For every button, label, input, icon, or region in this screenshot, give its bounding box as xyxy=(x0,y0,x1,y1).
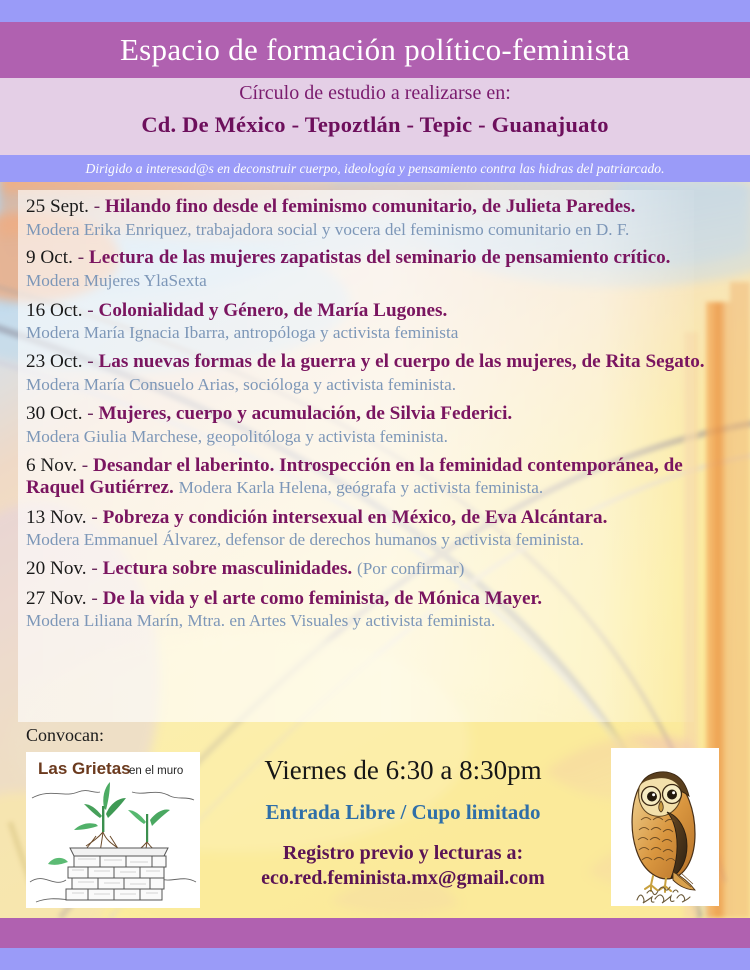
program-event-line: 6 Nov. - Desandar el laberinto. Introspe… xyxy=(26,455,726,500)
program-event-title: De la vida y el arte como feminista, de … xyxy=(103,588,542,609)
program-event-line: 20 Nov. - Lectura sobre masculinidades. … xyxy=(26,558,726,581)
header-top-blue-band xyxy=(0,0,750,22)
program-event-date: 25 Sept. xyxy=(26,196,89,217)
program-event-title: Colonialidad y Género, de María Lugones. xyxy=(98,300,447,321)
program-event-line: 27 Nov. - De la vida y el arte como femi… xyxy=(26,588,726,611)
subtitle-cities: Cd. De México - Tepoztlán - Tepic - Guan… xyxy=(0,112,750,138)
program-event-dash: - xyxy=(87,300,93,321)
program-event: 16 Oct. - Colonialidad y Género, de Marí… xyxy=(26,300,726,344)
contact-email[interactable]: eco.red.feminista.mx@gmail.com xyxy=(208,866,598,891)
program-event-dash: - xyxy=(87,403,93,424)
schedule-info-block: Viernes de 6:30 a 8:30pm Entrada Libre /… xyxy=(208,755,598,891)
footer-blue-band xyxy=(0,948,750,970)
footer-purple-band xyxy=(0,918,750,948)
program-event-title: Lectura de las mujeres zapatistas del se… xyxy=(89,247,671,268)
poster-tagline: Dirigido a interesad@s en deconstruir cu… xyxy=(0,155,750,182)
program-event-moderator: Modera Giulia Marchese, geopolitóloga y … xyxy=(26,427,726,448)
program-event-date: 13 Nov. xyxy=(26,507,87,528)
program-event-title: Pobreza y condición intersexual en Méxic… xyxy=(103,507,608,528)
program-event: 6 Nov. - Desandar el laberinto. Introspe… xyxy=(26,455,726,500)
program-list: 25 Sept. - Hilando fino desde el feminis… xyxy=(26,196,726,639)
program-event-date: 23 Oct. xyxy=(26,351,83,372)
program-event-title: Las nuevas formas de la guerra y el cuer… xyxy=(98,351,704,372)
program-event-date: 6 Nov. xyxy=(26,455,77,476)
program-event-dash: - xyxy=(82,455,88,476)
program-event-moderator: Modera Erika Enriquez, trabajadora socia… xyxy=(26,220,726,241)
program-event: 20 Nov. - Lectura sobre masculinidades. … xyxy=(26,558,726,581)
program-event-date: 9 Oct. xyxy=(26,247,73,268)
program-event-moderator: (Por confirmar) xyxy=(357,559,464,578)
program-event-dash: - xyxy=(91,507,97,528)
program-event-title: Hilando fino desde el feminismo comunita… xyxy=(105,196,636,217)
program-event-title: Mujeres, cuerpo y acumulación, de Silvia… xyxy=(98,403,512,424)
program-event-date: 20 Nov. xyxy=(26,558,87,579)
entrance-info: Entrada Libre / Cupo limitado xyxy=(208,800,598,825)
program-event-line: 25 Sept. - Hilando fino desde el feminis… xyxy=(26,196,726,219)
program-event-moderator: Modera Emmanuel Álvarez, defensor de der… xyxy=(26,530,726,551)
program-event-date: 30 Oct. xyxy=(26,403,83,424)
program-event-moderator: Modera Liliana Marín, Mtra. en Artes Vis… xyxy=(26,611,726,632)
program-event-moderator: Modera María Ignacia Ibarra, antropóloga… xyxy=(26,323,726,344)
owl-logo xyxy=(611,748,719,906)
program-event: 27 Nov. - De la vida y el arte como femi… xyxy=(26,588,726,632)
schedule-time: Viernes de 6:30 a 8:30pm xyxy=(208,755,598,786)
subtitle-line-1: Círculo de estudio a realizarse en: xyxy=(0,82,750,105)
program-event-date: 16 Oct. xyxy=(26,300,83,321)
logo-grietas-light-text: en el muro xyxy=(129,765,183,777)
program-event-line: 16 Oct. - Colonialidad y Género, de Marí… xyxy=(26,300,726,323)
poster: Espacio de formación político-feminista … xyxy=(0,0,750,970)
program-event: 13 Nov. - Pobreza y condición intersexua… xyxy=(26,507,726,551)
program-event-moderator: Modera Karla Helena, geógrafa y activist… xyxy=(179,478,544,497)
program-event: 25 Sept. - Hilando fino desde el feminis… xyxy=(26,196,726,240)
program-event-line: 9 Oct. - Lectura de las mujeres zapatist… xyxy=(26,247,726,292)
program-event-moderator: Modera María Consuelo Arias, socióloga y… xyxy=(26,375,456,394)
poster-title: Espacio de formación político-feminista xyxy=(0,22,750,78)
program-event-dash: - xyxy=(87,351,93,372)
program-event-date: 27 Nov. xyxy=(26,588,87,609)
logo-grietas-bold-text: Las Grietas xyxy=(38,759,131,778)
program-event-dash: - xyxy=(94,196,100,217)
program-event: 23 Oct. - Las nuevas formas de la guerra… xyxy=(26,351,726,396)
program-event-moderator: Modera Mujeres YlaSexta xyxy=(26,271,207,290)
program-event-line: 30 Oct. - Mujeres, cuerpo y acumulación,… xyxy=(26,403,726,426)
program-event-title: Lectura sobre masculinidades. xyxy=(103,558,353,579)
program-event-line: 23 Oct. - Las nuevas formas de la guerra… xyxy=(26,351,726,396)
las-grietas-en-el-muro-logo: Las Grietas en el muro xyxy=(26,752,200,908)
program-event: 9 Oct. - Lectura de las mujeres zapatist… xyxy=(26,247,726,292)
program-event: 30 Oct. - Mujeres, cuerpo y acumulación,… xyxy=(26,403,726,447)
convocan-label: Convocan: xyxy=(26,725,104,746)
program-event-line: 13 Nov. - Pobreza y condición intersexua… xyxy=(26,507,726,530)
program-event-dash: - xyxy=(91,558,97,579)
program-event-dash: - xyxy=(91,588,97,609)
program-event-dash: - xyxy=(78,247,84,268)
registration-label: Registro previo y lecturas a: xyxy=(208,841,598,866)
